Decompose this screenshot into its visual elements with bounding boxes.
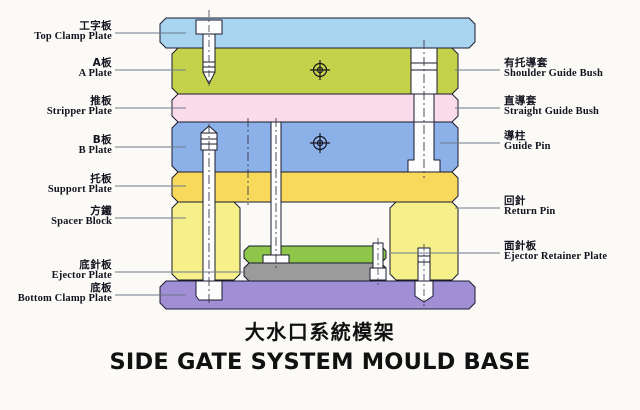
label-return-pin-en: Return Pin bbox=[504, 207, 640, 218]
label-support-plate-en: Support Plate bbox=[0, 185, 112, 196]
label-support-plate: 托板 Support Plate bbox=[0, 174, 112, 196]
label-a-plate-en: A Plate bbox=[0, 69, 112, 80]
label-top-clamp-plate: 工字板 Top Clamp Plate bbox=[0, 21, 112, 43]
label-ejector-retainer-plate: 面針板 Ejector Retainer Plate bbox=[504, 241, 640, 263]
label-return-pin: 回針 Return Pin bbox=[504, 196, 640, 218]
label-stripper-plate-en: Stripper Plate bbox=[0, 107, 112, 118]
label-ejector-plate-en: Ejector Plate bbox=[0, 271, 112, 282]
label-top-clamp-plate-en: Top Clamp Plate bbox=[0, 32, 112, 43]
label-guide-pin: 導柱 Guide Pin bbox=[504, 131, 640, 153]
label-a-plate: A板 A Plate bbox=[0, 58, 112, 80]
label-bottom-clamp-plate: 底板 Bottom Clamp Plate bbox=[0, 283, 112, 305]
label-straight-guide-bush-en: Straight Guide Bush bbox=[504, 107, 640, 118]
label-spacer-block: 方鐵 Spacer Block bbox=[0, 206, 112, 228]
title-block: 大水口系統模架 SIDE GATE SYSTEM MOULD BASE bbox=[0, 316, 640, 375]
label-straight-guide-bush: 直導套 Straight Guide Bush bbox=[504, 96, 640, 118]
label-guide-pin-en: Guide Pin bbox=[504, 142, 640, 153]
label-ejector-plate: 底針板 Ejector Plate bbox=[0, 260, 112, 282]
label-b-plate-en: B Plate bbox=[0, 146, 112, 157]
label-shoulder-guide-bush-en: Shoulder Guide Bush bbox=[504, 69, 640, 80]
title-english: SIDE GATE SYSTEM MOULD BASE bbox=[0, 349, 640, 375]
label-bottom-clamp-plate-en: Bottom Clamp Plate bbox=[0, 294, 112, 305]
label-ejector-retainer-plate-en: Ejector Retainer Plate bbox=[504, 252, 640, 263]
label-shoulder-guide-bush: 有托導套 Shoulder Guide Bush bbox=[504, 58, 640, 80]
plate-ejector-plate bbox=[244, 263, 386, 281]
label-stripper-plate: 推板 Stripper Plate bbox=[0, 96, 112, 118]
label-spacer-block-en: Spacer Block bbox=[0, 217, 112, 228]
title-chinese: 大水口系統模架 bbox=[0, 316, 640, 345]
diagram-stage: 工字板 Top Clamp Plate A板 A Plate 推板 Stripp… bbox=[0, 0, 640, 410]
label-b-plate: B板 B Plate bbox=[0, 135, 112, 157]
